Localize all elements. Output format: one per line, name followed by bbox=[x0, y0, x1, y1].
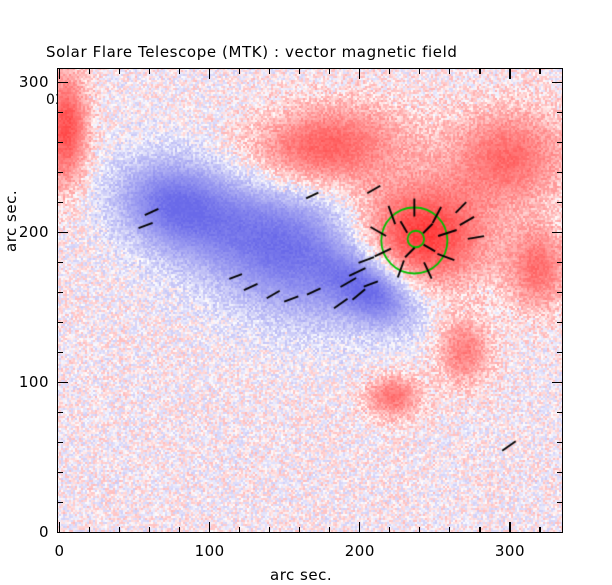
y-minor-tick-left bbox=[57, 292, 63, 294]
y-tick-label: 100 bbox=[19, 373, 49, 391]
x-minor-tick-top bbox=[149, 68, 151, 74]
y-minor-tick-left bbox=[57, 262, 63, 264]
x-minor-tick-top bbox=[299, 68, 301, 74]
y-minor-tick-left bbox=[57, 112, 63, 114]
x-minor-tick-bottom bbox=[89, 527, 91, 533]
x-major-tick-top bbox=[209, 68, 211, 79]
y-minor-tick-left bbox=[57, 412, 63, 414]
y-minor-tick-left bbox=[57, 172, 63, 174]
y-minor-tick-right bbox=[557, 502, 563, 504]
y-major-tick-left bbox=[57, 232, 68, 234]
vector-field-overlay bbox=[57, 68, 563, 533]
x-minor-tick-top bbox=[449, 68, 451, 74]
x-minor-tick-top bbox=[329, 68, 331, 74]
y-tick-label: 300 bbox=[19, 73, 49, 91]
y-minor-tick-right bbox=[557, 472, 563, 474]
y-major-tick-right bbox=[552, 532, 563, 534]
chart-title: Solar Flare Telescope (MTK) : vector mag… bbox=[46, 44, 457, 60]
y-major-tick-right bbox=[552, 232, 563, 234]
x-tick-label: 300 bbox=[495, 542, 525, 560]
y-minor-tick-left bbox=[57, 472, 63, 474]
x-minor-tick-bottom bbox=[449, 527, 451, 533]
y-major-tick-right bbox=[552, 382, 563, 384]
x-minor-tick-bottom bbox=[539, 527, 541, 533]
x-minor-tick-top bbox=[479, 68, 481, 74]
y-minor-tick-right bbox=[557, 292, 563, 294]
x-minor-tick-bottom bbox=[389, 527, 391, 533]
y-minor-tick-right bbox=[557, 352, 563, 354]
y-minor-tick-right bbox=[557, 322, 563, 324]
magnetogram-plot-area bbox=[57, 68, 563, 533]
x-minor-tick-bottom bbox=[239, 527, 241, 533]
y-minor-tick-left bbox=[57, 502, 63, 504]
x-minor-tick-bottom bbox=[329, 527, 331, 533]
x-minor-tick-top bbox=[89, 68, 91, 74]
x-minor-tick-bottom bbox=[149, 527, 151, 533]
x-tick-label: 200 bbox=[345, 542, 375, 560]
y-axis-label: arc sec. bbox=[2, 190, 20, 252]
x-major-tick-top bbox=[359, 68, 361, 79]
x-minor-tick-top bbox=[419, 68, 421, 74]
y-minor-tick-right bbox=[557, 412, 563, 414]
x-axis-label: arc sec. bbox=[270, 566, 332, 584]
x-tick-label: 100 bbox=[195, 542, 225, 560]
y-tick-label: 0 bbox=[39, 523, 49, 541]
y-minor-tick-right bbox=[557, 202, 563, 204]
y-minor-tick-left bbox=[57, 352, 63, 354]
x-major-tick-bottom bbox=[209, 522, 211, 533]
y-minor-tick-right bbox=[557, 262, 563, 264]
x-major-tick-bottom bbox=[509, 522, 511, 533]
x-minor-tick-top bbox=[119, 68, 121, 74]
y-minor-tick-left bbox=[57, 322, 63, 324]
x-minor-tick-bottom bbox=[119, 527, 121, 533]
y-minor-tick-left bbox=[57, 142, 63, 144]
y-minor-tick-left bbox=[57, 442, 63, 444]
x-minor-tick-top bbox=[269, 68, 271, 74]
x-minor-tick-bottom bbox=[299, 527, 301, 533]
x-minor-tick-bottom bbox=[479, 527, 481, 533]
x-minor-tick-top bbox=[389, 68, 391, 74]
x-minor-tick-top bbox=[539, 68, 541, 74]
y-major-tick-left bbox=[57, 532, 68, 534]
x-tick-label: 0 bbox=[54, 542, 64, 560]
x-major-tick-bottom bbox=[359, 522, 361, 533]
y-major-tick-right bbox=[552, 82, 563, 84]
x-minor-tick-bottom bbox=[179, 527, 181, 533]
x-minor-tick-top bbox=[239, 68, 241, 74]
x-minor-tick-bottom bbox=[269, 527, 271, 533]
y-minor-tick-right bbox=[557, 142, 563, 144]
y-tick-label: 200 bbox=[19, 223, 49, 241]
x-major-tick-top bbox=[509, 68, 511, 79]
x-minor-tick-top bbox=[179, 68, 181, 74]
y-minor-tick-right bbox=[557, 442, 563, 444]
x-minor-tick-bottom bbox=[419, 527, 421, 533]
x-major-tick-top bbox=[59, 68, 61, 79]
y-minor-tick-left bbox=[57, 202, 63, 204]
y-minor-tick-right bbox=[557, 112, 563, 114]
y-minor-tick-right bbox=[557, 172, 563, 174]
y-major-tick-left bbox=[57, 382, 68, 384]
y-major-tick-left bbox=[57, 82, 68, 84]
